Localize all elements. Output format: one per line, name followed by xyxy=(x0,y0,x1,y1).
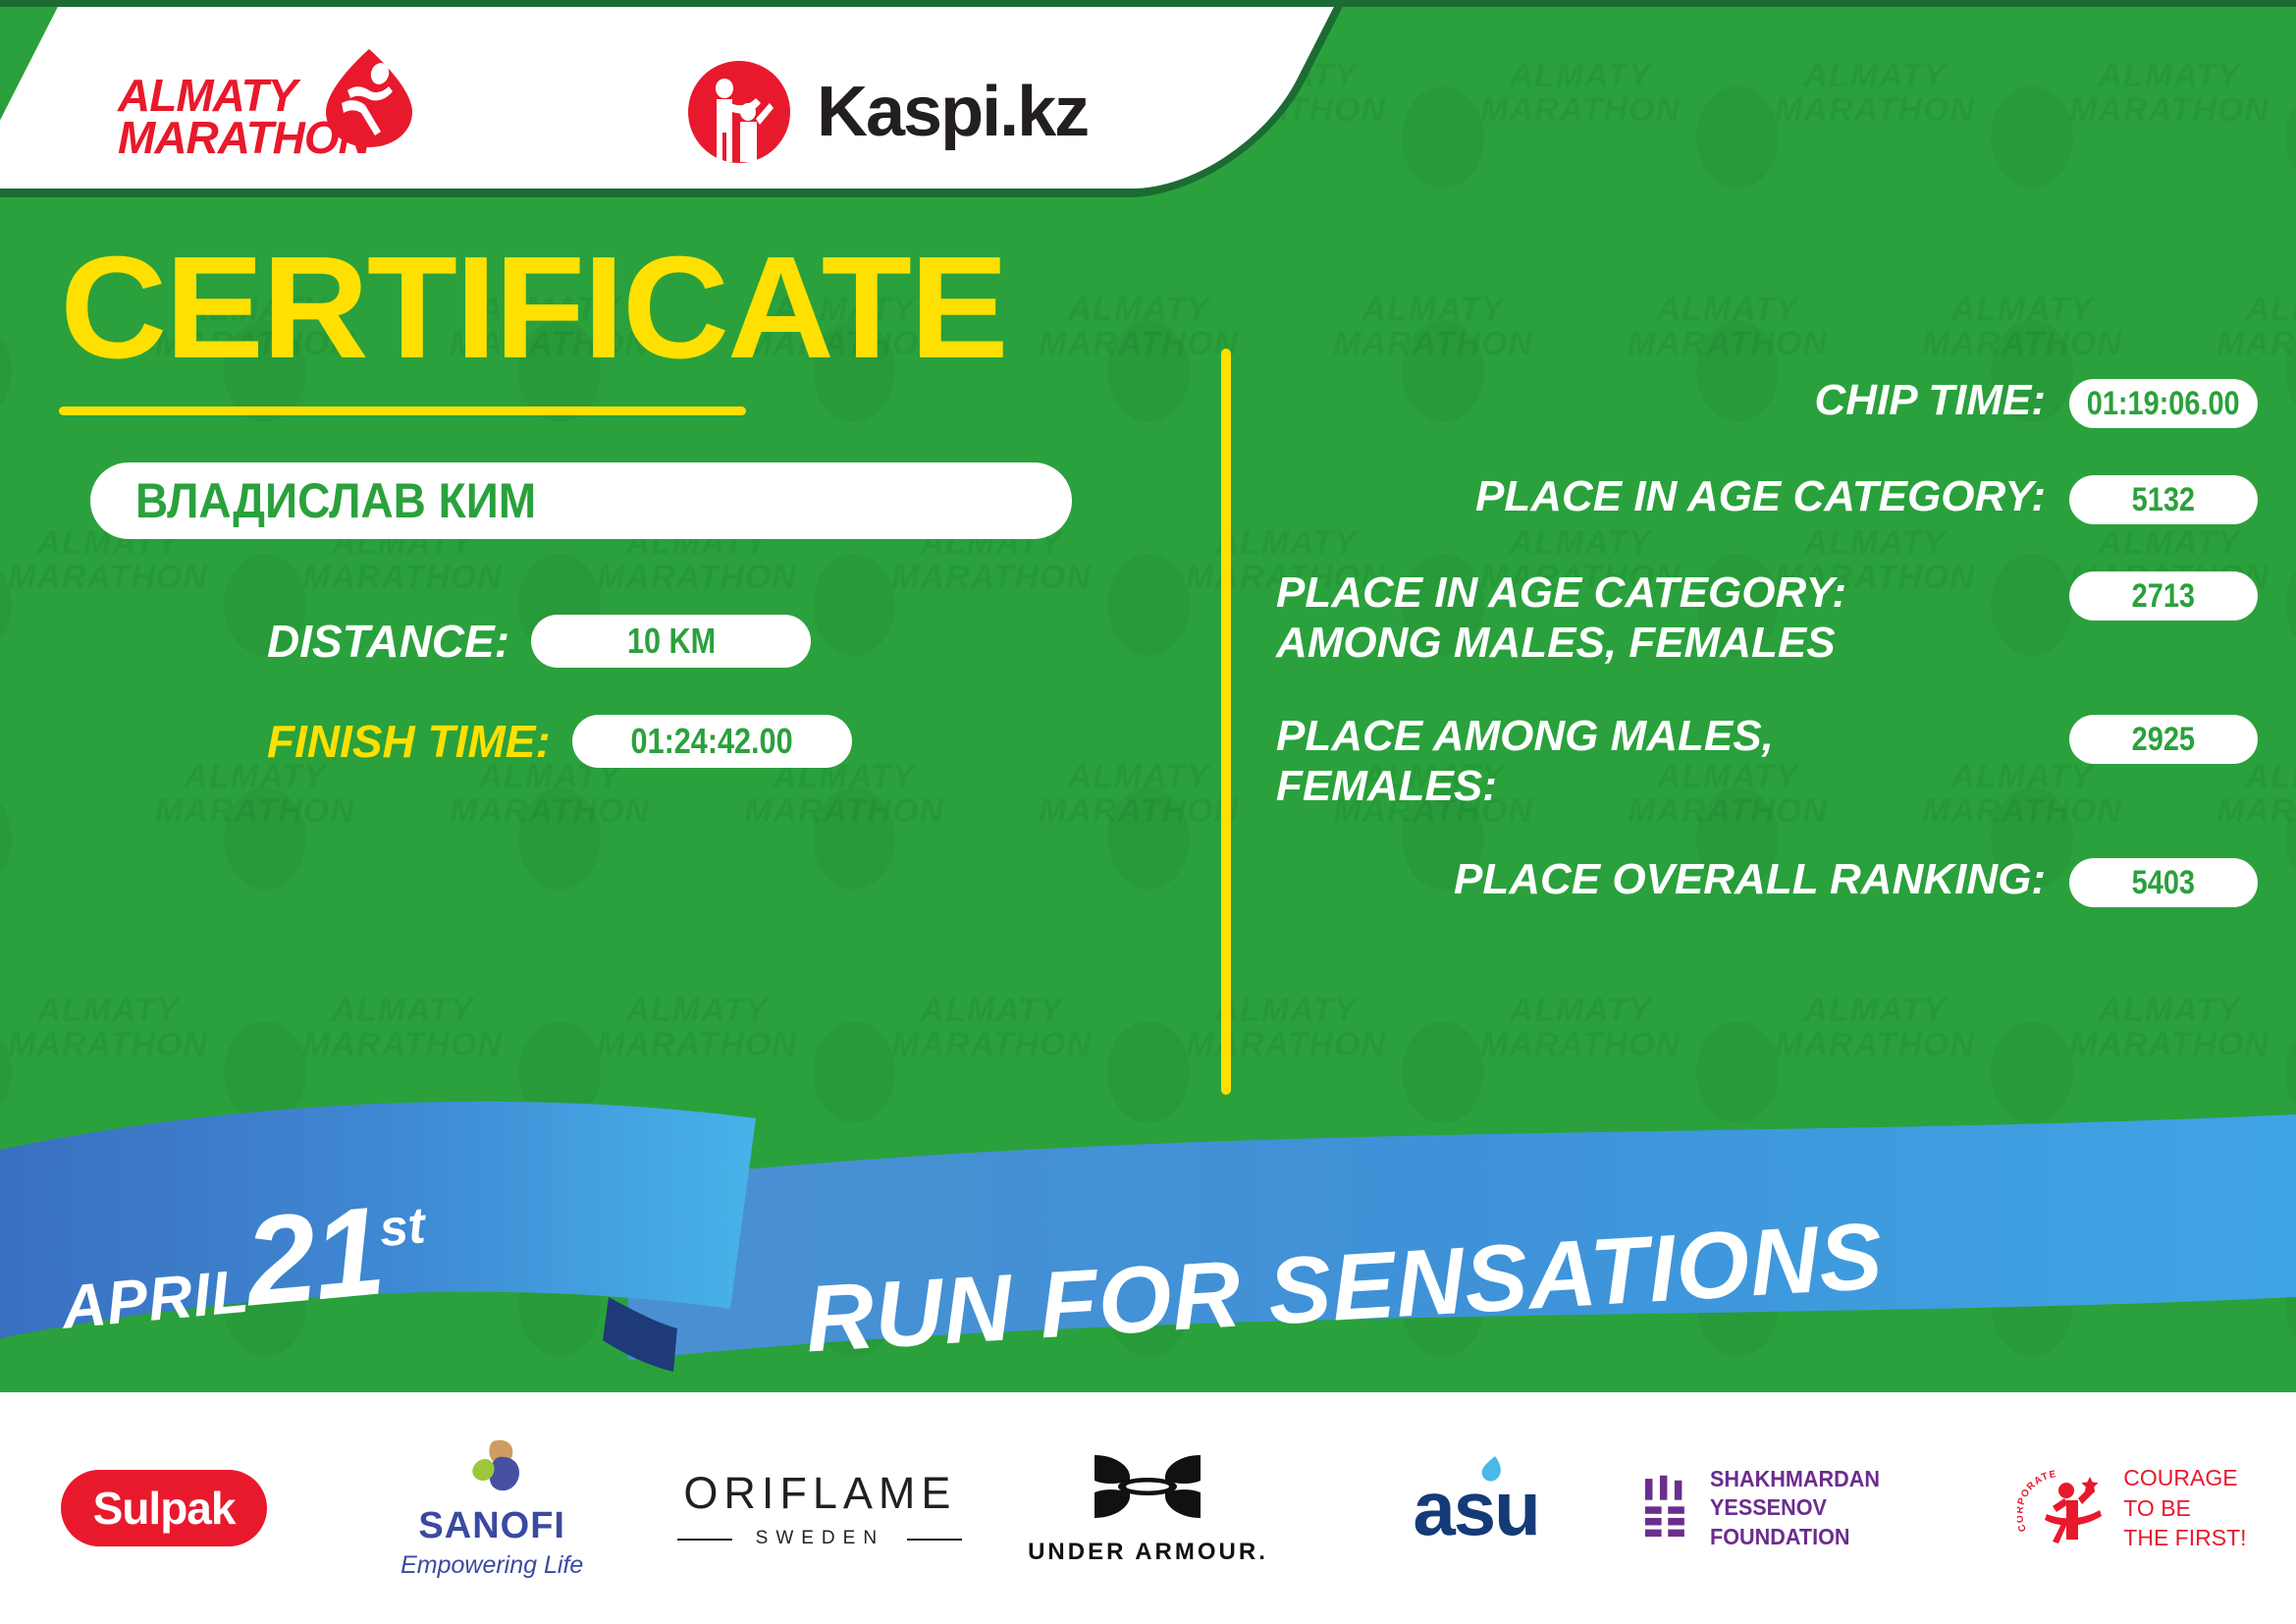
watermark-tile: ALMATYMARATHON xyxy=(1728,0,2022,175)
watermark-tile: ALMATYMARATHON xyxy=(1286,175,1580,408)
watermark-tile: ALMATYMARATHON xyxy=(1580,175,1875,408)
stat-label: PLACE IN AGE CATEGORY: AMONG MALES, FEMA… xyxy=(1276,568,2069,668)
stat-value-pill: 10 KM xyxy=(531,615,811,668)
sponsor-bar: Sulpak SANOFI Empowering Life ORIFLAME S… xyxy=(0,1392,2296,1624)
stat-value: 2713 xyxy=(2132,577,2195,616)
under-armour-mark-icon xyxy=(1087,1451,1208,1524)
ribbon-banner: APRIL21st RUN FOR SENSATIONS xyxy=(0,1065,2296,1389)
sanofi-logo: SANOFI Empowering Life xyxy=(400,1437,583,1580)
stat-value-pill: 2925 xyxy=(2069,715,2258,764)
almaty-marathon-logo: ALMATY MARATHON xyxy=(118,47,422,175)
stat-value-pill: 01:24:42.00 xyxy=(572,715,852,768)
top-accent-strip xyxy=(0,0,2296,7)
participant-name-field: ВЛАДИСЛАВ КИМ xyxy=(90,462,1072,539)
left-stat-row: DISTANCE:10 KM xyxy=(267,602,1207,680)
stat-value: 2925 xyxy=(2132,721,2195,759)
stat-label: PLACE IN AGE CATEGORY: xyxy=(1276,471,2069,521)
kaspi-people-icon xyxy=(687,60,791,164)
yessenov-wordmark: SHAKHMARDAN YESSENOV FOUNDATION xyxy=(1710,1465,1952,1551)
sulpak-logo: Sulpak xyxy=(61,1470,267,1546)
oriflame-logo: ORIFLAME SWEDEN xyxy=(683,1468,956,1549)
runner-drop-icon xyxy=(324,47,414,149)
sponsor-yessenov: SHAKHMARDAN YESSENOV FOUNDATION xyxy=(1640,1430,1968,1587)
under-armour-wordmark: UNDER ARMOUR. xyxy=(1028,1539,1268,1566)
sponsor-courage: CORPORATE FUND COURAGE TO BE THE FIRST! xyxy=(1968,1430,2296,1587)
sulpak-wordmark: Sulpak xyxy=(93,1482,236,1535)
stat-label: DISTANCE: xyxy=(267,615,509,668)
stat-value: 5403 xyxy=(2132,864,2195,902)
stat-value-pill: 5132 xyxy=(2069,475,2258,524)
left-column: CERTIFICATE ВЛАДИСЛАВ КИМ DISTANCE:10 KM… xyxy=(0,236,1207,802)
sponsor-oriflame: ORIFLAME SWEDEN xyxy=(656,1430,984,1587)
oriflame-wordmark: ORIFLAME xyxy=(683,1468,956,1519)
courage-runner-icon: CORPORATE FUND xyxy=(2017,1461,2111,1555)
stat-value: 5132 xyxy=(2132,481,2195,519)
right-stat-row: PLACE IN AGE CATEGORY: AMONG MALES, FEMA… xyxy=(1276,568,2258,668)
kaspi-logo: Kaspi.kz xyxy=(687,55,1088,169)
certificate-page: ALMATYMARATHONALMATYMARATHONALMATYMARATH… xyxy=(0,0,2296,1624)
sanofi-mark-icon xyxy=(450,1437,534,1498)
stat-value-pill: 5403 xyxy=(2069,858,2258,907)
certificate-title: CERTIFICATE xyxy=(0,236,1232,381)
watermark-tile: ALMATYMARATHON xyxy=(2169,175,2296,408)
left-stat-row: FINISH TIME:01:24:42.00 xyxy=(267,702,1207,781)
right-stat-row: PLACE AMONG MALES, FEMALES:2925 xyxy=(1276,711,2258,811)
under-armour-logo: UNDER ARMOUR. xyxy=(1028,1451,1268,1566)
participant-name: ВЛАДИСЛАВ КИМ xyxy=(90,472,536,529)
asu-droplet-icon xyxy=(1479,1454,1505,1488)
watermark-tile: ALMATYMARATHON xyxy=(1433,0,1728,175)
stat-label: CHIP TIME: xyxy=(1276,375,2069,425)
sponsor-asu: asu xyxy=(1312,1430,1640,1587)
yessenov-logo: SHAKHMARDAN YESSENOV FOUNDATION xyxy=(1640,1465,1968,1551)
stat-value-pill: 2713 xyxy=(2069,571,2258,621)
watermark-tile: ALMATYMARATHON xyxy=(2022,0,2296,175)
kaspi-wordmark: Kaspi.kz xyxy=(817,72,1088,152)
courage-logo: CORPORATE FUND COURAGE TO BE THE FIRST! xyxy=(2017,1461,2246,1555)
stat-value: 01:19:06.00 xyxy=(2087,385,2240,423)
stat-label: PLACE OVERALL RANKING: xyxy=(1276,854,2069,904)
sanofi-wordmark: SANOFI xyxy=(400,1505,583,1547)
stat-label: FINISH TIME: xyxy=(267,715,551,768)
asu-wordmark: asu xyxy=(1413,1465,1538,1551)
right-stat-rows: CHIP TIME:01:19:06.00PLACE IN AGE CATEGO… xyxy=(1276,375,2258,950)
sponsor-sulpak: Sulpak xyxy=(0,1430,328,1587)
stat-value: 10 KM xyxy=(626,621,715,662)
event-day: 21 xyxy=(240,1180,389,1332)
yessenov-mark-icon xyxy=(1640,1469,1692,1547)
watermark-tile: ALMATYMARATHON xyxy=(1875,175,2169,408)
left-stat-rows: DISTANCE:10 KMFINISH TIME:01:24:42.00 xyxy=(0,602,1207,781)
stat-label: PLACE AMONG MALES, FEMALES: xyxy=(1276,711,2069,811)
stat-value-pill: 01:19:06.00 xyxy=(2069,379,2258,428)
title-underline xyxy=(59,406,746,415)
right-stat-row: PLACE IN AGE CATEGORY:5132 xyxy=(1276,471,2258,524)
event-month: APRIL xyxy=(59,1258,251,1342)
vertical-divider xyxy=(1221,349,1231,1095)
oriflame-sub: SWEDEN xyxy=(683,1528,956,1549)
sanofi-tagline: Empowering Life xyxy=(400,1551,583,1580)
right-stat-row: PLACE OVERALL RANKING:5403 xyxy=(1276,854,2258,907)
asu-logo: asu xyxy=(1413,1470,1538,1546)
stat-value: 01:24:42.00 xyxy=(631,721,793,762)
right-stat-row: CHIP TIME:01:19:06.00 xyxy=(1276,375,2258,428)
courage-wordmark: COURAGE TO BE THE FIRST! xyxy=(2123,1463,2246,1553)
event-day-suffix: st xyxy=(377,1197,427,1258)
sponsor-under-armour: UNDER ARMOUR. xyxy=(984,1430,1311,1587)
sponsor-sanofi: SANOFI Empowering Life xyxy=(328,1430,656,1587)
